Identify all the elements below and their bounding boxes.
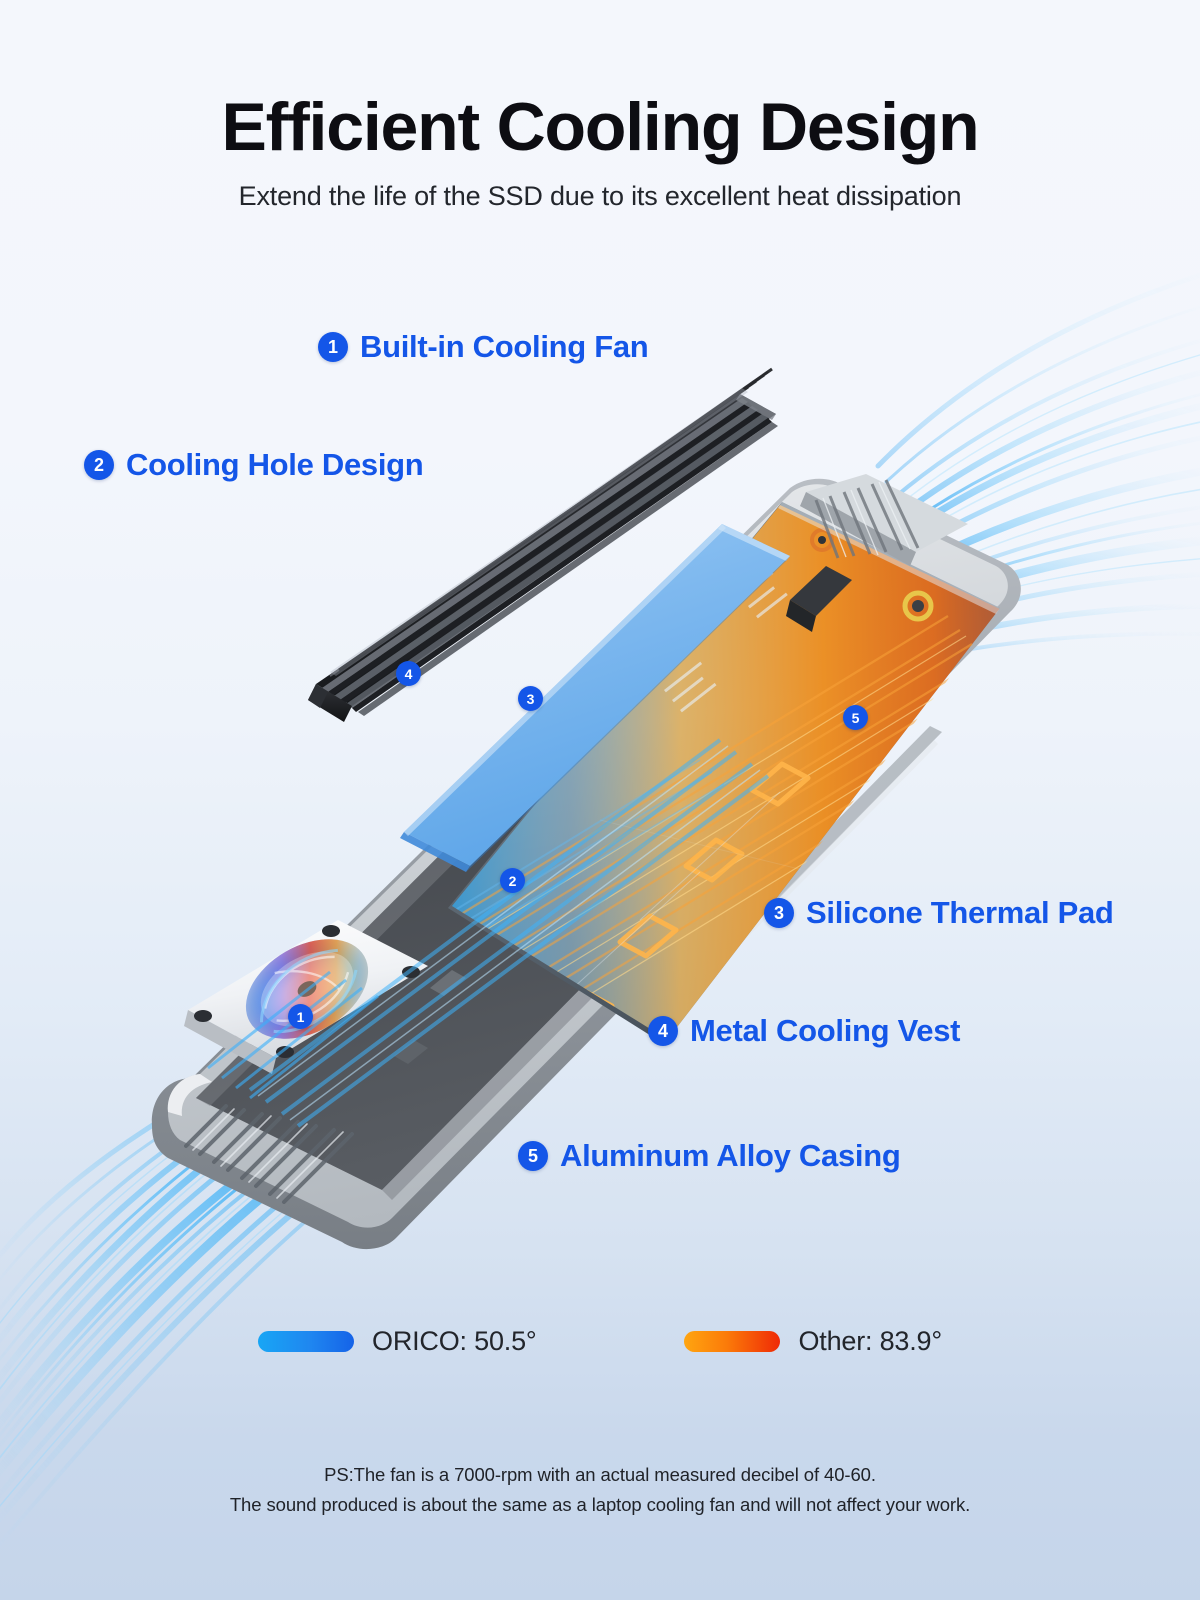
callout-built-in-cooling-fan: 1 Built-in Cooling Fan	[318, 329, 648, 365]
page-subtitle: Extend the life of the SSD due to its ex…	[0, 181, 1200, 212]
header: Efficient Cooling Design Extend the life…	[0, 92, 1200, 212]
callout-badge-5: 5	[518, 1141, 548, 1171]
legend-swatch-hot	[684, 1331, 780, 1352]
legend-swatch-cool	[258, 1331, 354, 1352]
footnote-line-2: The sound produced is about the same as …	[0, 1490, 1200, 1520]
marker-thermal-pad: 3	[518, 686, 543, 711]
callout-label-1: Built-in Cooling Fan	[360, 329, 648, 365]
callout-cooling-hole-design: 2 Cooling Hole Design	[84, 447, 423, 483]
marker-cooling-holes: 2	[500, 868, 525, 893]
page-title: Efficient Cooling Design	[0, 92, 1200, 163]
marker-metal-cooling-vest: 4	[396, 661, 421, 686]
callout-badge-1: 1	[318, 332, 348, 362]
footnote-line-1: PS:The fan is a 7000-rpm with an actual …	[0, 1460, 1200, 1490]
callout-badge-4: 4	[648, 1016, 678, 1046]
callout-metal-cooling-vest: 4 Metal Cooling Vest	[648, 1013, 960, 1049]
callout-aluminum-alloy-casing: 5 Aluminum Alloy Casing	[518, 1138, 900, 1174]
footnote: PS:The fan is a 7000-rpm with an actual …	[0, 1460, 1200, 1520]
callout-silicone-thermal-pad: 3 Silicone Thermal Pad	[764, 895, 1114, 931]
marker-aluminum-casing: 5	[843, 705, 868, 730]
temperature-legend: ORICO: 50.5° Other: 83.9°	[0, 1326, 1200, 1357]
callout-label-3: Silicone Thermal Pad	[806, 895, 1114, 931]
legend-item-other: Other: 83.9°	[684, 1326, 941, 1357]
marker-cooling-fan: 1	[288, 1004, 313, 1029]
callout-label-5: Aluminum Alloy Casing	[560, 1138, 900, 1174]
legend-label-other: Other: 83.9°	[798, 1326, 941, 1357]
callout-label-4: Metal Cooling Vest	[690, 1013, 960, 1049]
callout-label-2: Cooling Hole Design	[126, 447, 423, 483]
callout-badge-2: 2	[84, 450, 114, 480]
callout-badge-3: 3	[764, 898, 794, 928]
infographic-page: Efficient Cooling Design Extend the life…	[0, 0, 1200, 1600]
legend-item-orico: ORICO: 50.5°	[258, 1326, 536, 1357]
legend-label-orico: ORICO: 50.5°	[372, 1326, 536, 1357]
product-exploded-illustration	[0, 0, 1200, 1600]
